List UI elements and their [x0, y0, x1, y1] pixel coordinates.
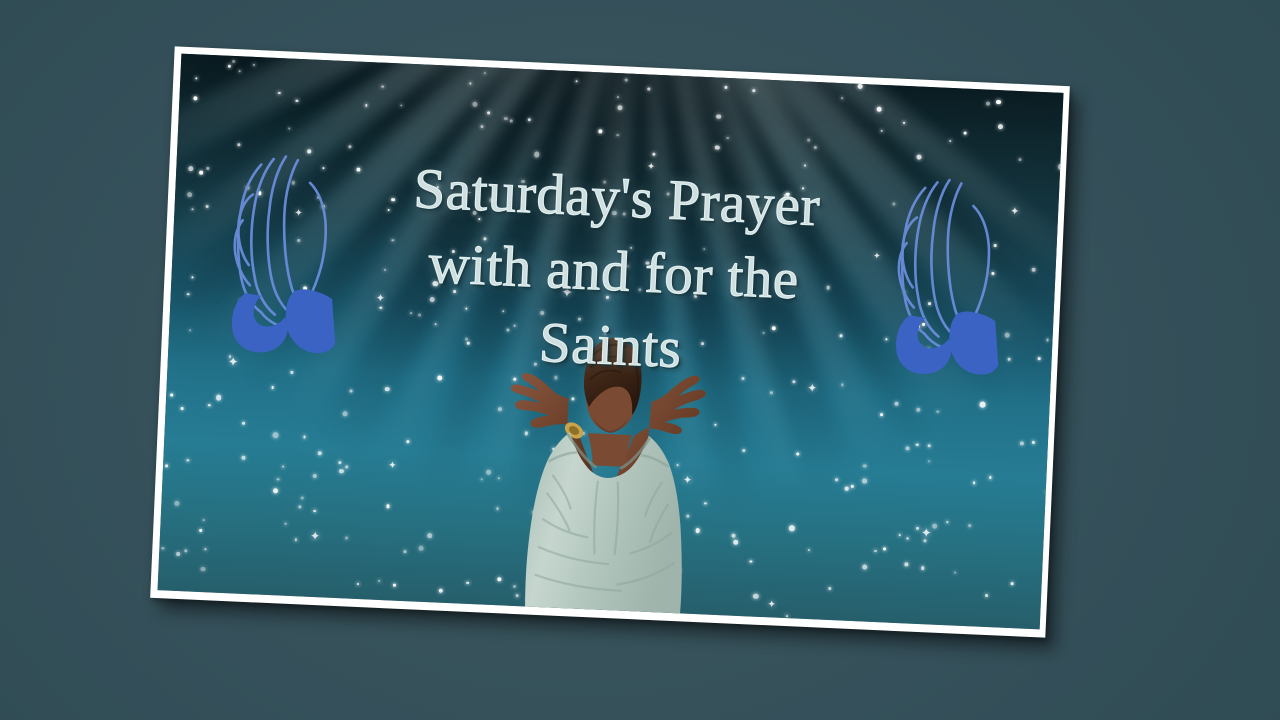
star [1047, 547, 1053, 553]
star [288, 127, 290, 129]
star [828, 587, 831, 590]
star [916, 408, 920, 412]
star [185, 549, 188, 552]
star [858, 84, 863, 89]
star [725, 86, 728, 89]
star [880, 413, 883, 416]
sparkle-star: ✦ [920, 527, 931, 540]
star [392, 239, 394, 241]
star [647, 87, 650, 90]
star [921, 566, 924, 569]
star [895, 402, 899, 406]
star [905, 446, 909, 450]
star [862, 479, 866, 483]
star [616, 134, 619, 137]
star [904, 563, 908, 567]
star [646, 261, 650, 265]
star [1032, 441, 1035, 444]
star [509, 119, 513, 123]
star [612, 211, 617, 216]
star [162, 547, 165, 550]
star [187, 293, 189, 295]
star [199, 171, 203, 175]
star [936, 410, 939, 413]
star [273, 432, 279, 438]
star [472, 211, 477, 216]
star [273, 488, 278, 493]
star [932, 523, 938, 529]
star [903, 122, 905, 124]
star [826, 286, 829, 289]
star [928, 444, 931, 447]
star [384, 269, 386, 271]
star [480, 125, 483, 128]
star [715, 145, 720, 150]
star [814, 146, 817, 149]
star [1046, 338, 1049, 341]
worship-slide: ✦✦✦✦✦✦✦✦✦✦✦✦✦✦✦✦ [158, 54, 1064, 630]
star [295, 99, 298, 102]
star [806, 211, 809, 214]
sparkle-star: ✦ [227, 356, 238, 369]
star [915, 527, 918, 530]
star [203, 606, 205, 608]
star [616, 264, 619, 267]
star [199, 529, 202, 532]
star [804, 165, 806, 167]
star [916, 444, 919, 447]
star [841, 383, 844, 386]
star [726, 137, 729, 140]
star [205, 205, 208, 208]
star [883, 547, 886, 550]
star [300, 496, 303, 499]
star [228, 65, 231, 68]
star [278, 92, 280, 94]
star [808, 138, 811, 141]
star [996, 99, 1001, 104]
star [863, 464, 867, 468]
star [504, 247, 506, 249]
star [1031, 268, 1035, 272]
man-with-raised-arms [384, 273, 828, 622]
star [1038, 357, 1041, 360]
sparkle-star: ✦ [486, 613, 495, 623]
star [165, 464, 168, 467]
star [191, 208, 193, 210]
star [985, 594, 988, 597]
star [652, 152, 655, 155]
star [598, 129, 602, 133]
star [928, 460, 930, 462]
star [623, 212, 626, 215]
worship-slide-frame: ✦✦✦✦✦✦✦✦✦✦✦✦✦✦✦✦ [150, 46, 1070, 637]
star [345, 537, 348, 540]
star [175, 602, 177, 604]
star [973, 481, 976, 484]
star [203, 519, 205, 521]
star [437, 186, 439, 188]
star [174, 500, 180, 506]
star [391, 198, 395, 202]
star [534, 152, 539, 157]
star [483, 72, 485, 74]
star [290, 371, 293, 374]
star [980, 402, 986, 408]
star [339, 469, 344, 474]
star [703, 248, 705, 250]
star [200, 567, 205, 572]
star [716, 114, 721, 119]
star [954, 572, 956, 574]
star [284, 523, 286, 525]
screen-canvas: ✦✦✦✦✦✦✦✦✦✦✦✦✦✦✦✦ [0, 0, 1280, 720]
star [295, 538, 298, 541]
star [356, 167, 361, 172]
star [188, 166, 194, 172]
star [205, 548, 207, 550]
star [345, 465, 348, 468]
star [298, 505, 301, 508]
star [388, 209, 390, 211]
star [603, 180, 606, 183]
star [841, 97, 844, 100]
star [187, 459, 189, 461]
star [752, 89, 755, 92]
star [950, 139, 952, 141]
star [877, 107, 882, 112]
star [312, 474, 317, 479]
sparkle-star: ✦ [647, 162, 656, 172]
star [472, 102, 478, 108]
star [241, 456, 245, 460]
star [898, 534, 900, 536]
star [575, 80, 578, 83]
star [916, 154, 922, 160]
star [964, 131, 967, 134]
star [242, 422, 246, 426]
star [238, 70, 241, 73]
star [339, 461, 342, 464]
star [350, 389, 353, 392]
star [1020, 441, 1024, 445]
star [489, 197, 495, 203]
star [170, 393, 173, 396]
star [850, 485, 853, 488]
star [276, 478, 279, 481]
star [835, 478, 838, 481]
star [1019, 158, 1022, 161]
star [880, 130, 882, 132]
star [528, 118, 531, 121]
star [470, 82, 472, 84]
star [484, 237, 487, 240]
star [176, 552, 180, 556]
star [232, 60, 235, 63]
star [617, 105, 622, 110]
sparkle-star: ✦ [375, 293, 385, 304]
star [365, 104, 368, 107]
star [845, 486, 849, 490]
star [180, 407, 183, 410]
star [986, 101, 991, 106]
star [193, 97, 197, 101]
star [1046, 490, 1048, 492]
star [303, 436, 306, 439]
star [189, 329, 192, 332]
star [968, 525, 971, 528]
star [906, 537, 909, 540]
star [381, 85, 384, 88]
praying-hands-icon-right [871, 163, 1020, 381]
star [342, 411, 348, 417]
praying-hands-icon-left [206, 140, 357, 358]
star [997, 124, 1002, 129]
star [216, 395, 222, 401]
star [208, 404, 210, 406]
star [357, 583, 359, 585]
star [187, 192, 193, 198]
sparkle-star: ✦ [310, 530, 321, 542]
star [666, 192, 670, 196]
star [385, 387, 389, 391]
star [1058, 164, 1063, 169]
star [624, 79, 627, 82]
star [318, 451, 323, 456]
star [839, 334, 842, 337]
star [400, 104, 402, 106]
star [195, 77, 197, 79]
star [253, 64, 256, 67]
star [478, 218, 481, 221]
star [946, 521, 948, 523]
star [378, 580, 380, 582]
star [224, 596, 226, 598]
star [874, 550, 876, 552]
star [757, 208, 760, 211]
star [1010, 582, 1013, 585]
star [862, 564, 867, 569]
star [291, 602, 294, 605]
star [282, 465, 285, 468]
star [192, 277, 194, 279]
star [617, 96, 619, 98]
star [207, 167, 210, 170]
star [521, 179, 525, 183]
star [802, 187, 805, 190]
star [630, 247, 632, 249]
star [793, 284, 796, 287]
star [313, 510, 316, 513]
star [452, 250, 455, 253]
star [504, 117, 508, 121]
star [487, 112, 490, 115]
star [989, 476, 992, 479]
star [271, 386, 273, 388]
sparkle-star: ✦ [460, 186, 472, 201]
star [380, 306, 383, 309]
star [783, 194, 788, 199]
star [626, 265, 629, 268]
